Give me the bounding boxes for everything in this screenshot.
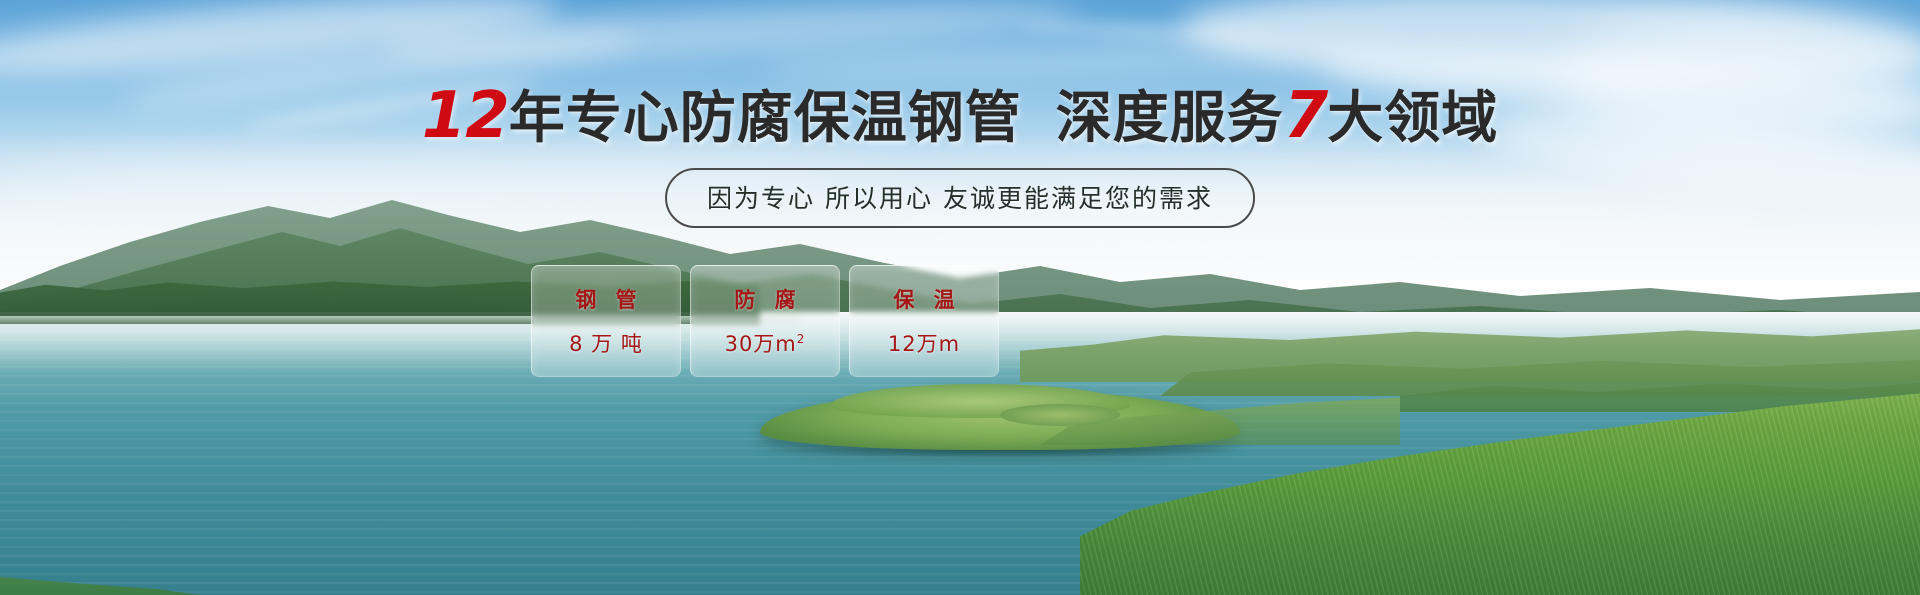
headline-lead-text: 年专心防腐保温钢管 [509, 86, 1022, 151]
stat-card-steel-pipe[interactable]: 钢 管 8 万 吨 [531, 265, 681, 377]
stat-card-value: 12万m [888, 328, 960, 358]
headline-second-text-before: 深度服务 [1056, 86, 1284, 151]
cloud-wisp [0, 0, 561, 91]
cloud-wisp [760, 33, 1401, 85]
subtitle-pill: 因为专心 所以用心 友诚更能满足您的需求 [665, 168, 1255, 228]
cloud-wisp [379, 0, 1080, 72]
stat-card-title: 防 腐 [728, 284, 801, 314]
stat-card-value: 8 万 吨 [569, 328, 643, 358]
page-title: 12年专心防腐保温钢管深度服务7大领域 [0, 84, 1920, 148]
stat-card-list: 钢 管 8 万 吨 防 腐 30万m2 保 温 12万m [531, 265, 999, 377]
hero-banner: 12年专心防腐保温钢管深度服务7大领域 因为专心 所以用心 友诚更能满足您的需求… [0, 0, 1920, 595]
stat-card-anticorrosion[interactable]: 防 腐 30万m2 [690, 265, 840, 377]
headline-lead-number: 12 [422, 79, 509, 153]
headline-second-number: 7 [1284, 79, 1328, 153]
stat-card-title: 钢 管 [569, 284, 642, 314]
cloud-wisp [1020, 17, 1280, 47]
stat-card-insulation[interactable]: 保 温 12万m [849, 265, 999, 377]
stat-card-unit-sup: 2 [797, 332, 806, 346]
stat-card-value: 30万m2 [725, 328, 806, 358]
headline-second-text-after: 大领域 [1327, 86, 1498, 151]
stat-card-title: 保 温 [887, 284, 960, 314]
